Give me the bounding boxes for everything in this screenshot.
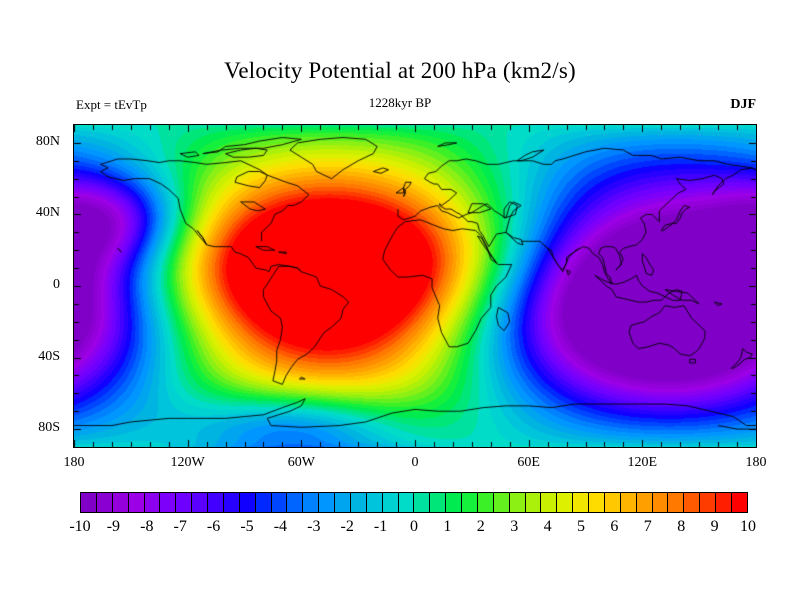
colorbar-cell bbox=[716, 493, 732, 512]
x-axis-ticklabel: 60E bbox=[499, 455, 559, 471]
experiment-label: Expt = tEvTp bbox=[76, 97, 147, 113]
y-axis-ticklabel: 80N bbox=[8, 134, 60, 150]
colorbar-cell bbox=[367, 493, 383, 512]
colorbar-cell bbox=[494, 493, 510, 512]
y-axis-ticklabel: 80S bbox=[8, 420, 60, 436]
colorbar-cell bbox=[589, 493, 605, 512]
x-axis-ticklabel: 120E bbox=[612, 455, 672, 471]
colorbar-cell bbox=[478, 493, 494, 512]
colorbar-cell bbox=[113, 493, 129, 512]
colorbar-cell bbox=[208, 493, 224, 512]
colorbar-ticklabel: 10 bbox=[728, 518, 768, 536]
colorbar-cell bbox=[446, 493, 462, 512]
page-title: Velocity Potential at 200 hPa (km2/s) bbox=[0, 58, 800, 84]
colorbar-cell bbox=[129, 493, 145, 512]
colorbar-cell bbox=[605, 493, 621, 512]
colorbar-cell bbox=[541, 493, 557, 512]
colorbar-cell bbox=[557, 493, 573, 512]
colorbar-cell bbox=[319, 493, 335, 512]
y-axis-ticklabel: 40S bbox=[8, 349, 60, 365]
figure-root: Velocity Potential at 200 hPa (km2/s) 12… bbox=[0, 0, 800, 600]
colorbar-cell bbox=[256, 493, 272, 512]
y-axis-ticklabel: 0 bbox=[8, 277, 60, 293]
x-axis-ticklabel: 180 bbox=[44, 455, 104, 471]
colorbar-cell bbox=[351, 493, 367, 512]
x-axis-ticklabel: 180 bbox=[726, 455, 786, 471]
colorbar-cell bbox=[637, 493, 653, 512]
colorbar-cell bbox=[383, 493, 399, 512]
colorbar-cell bbox=[684, 493, 700, 512]
map-plot-area bbox=[73, 124, 757, 448]
colorbar-cell bbox=[573, 493, 589, 512]
colorbar-cell bbox=[668, 493, 684, 512]
colorbar-cell bbox=[224, 493, 240, 512]
colorbar-cell bbox=[399, 493, 415, 512]
colorbar bbox=[80, 492, 748, 513]
colorbar-cell bbox=[240, 493, 256, 512]
colorbar-cell bbox=[160, 493, 176, 512]
x-axis-ticklabel: 0 bbox=[385, 455, 445, 471]
colorbar-cell bbox=[732, 493, 747, 512]
colorbar-cell bbox=[430, 493, 446, 512]
velocity-potential-field bbox=[74, 125, 756, 447]
colorbar-cell bbox=[287, 493, 303, 512]
colorbar-cell bbox=[335, 493, 351, 512]
colorbar-cell bbox=[176, 493, 192, 512]
colorbar-cell bbox=[510, 493, 526, 512]
colorbar-cell bbox=[462, 493, 478, 512]
season-label: DJF bbox=[730, 97, 756, 113]
colorbar-cell bbox=[145, 493, 161, 512]
colorbar-cell bbox=[653, 493, 669, 512]
colorbar-cell bbox=[303, 493, 319, 512]
colorbar-cell bbox=[414, 493, 430, 512]
colorbar-cell bbox=[272, 493, 288, 512]
colorbar-cell bbox=[621, 493, 637, 512]
colorbar-cell bbox=[700, 493, 716, 512]
colorbar-cell bbox=[81, 493, 97, 512]
colorbar-cell bbox=[97, 493, 113, 512]
x-axis-ticklabel: 60W bbox=[271, 455, 331, 471]
y-axis-ticklabel: 40N bbox=[8, 205, 60, 221]
colorbar-cell bbox=[526, 493, 542, 512]
colorbar-cell bbox=[192, 493, 208, 512]
x-axis-ticklabel: 120W bbox=[158, 455, 218, 471]
